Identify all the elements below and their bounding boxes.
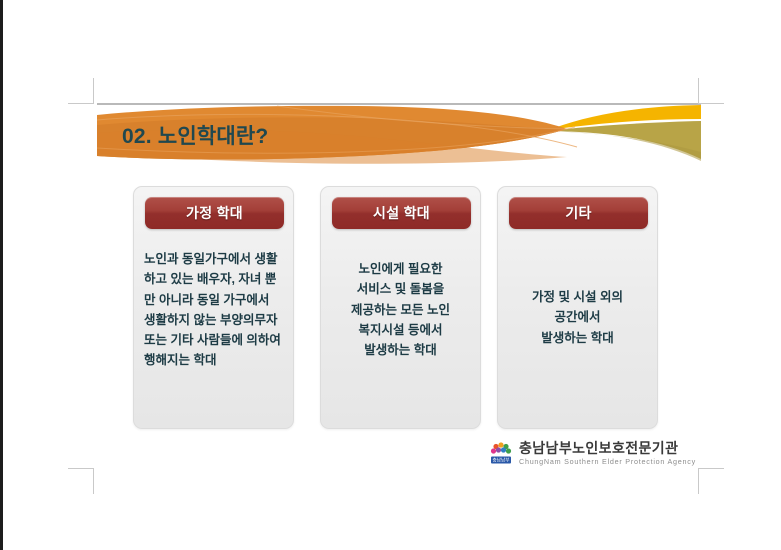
crop-mark-top-right xyxy=(698,78,724,104)
definition-card-row: 가정 학대 노인과 동일가구에서 생활하고 있는 배우자, 자녀 뿐만 아니라 … xyxy=(133,186,668,429)
header-banner: 02. 노인학대란? xyxy=(97,103,701,171)
card-body-other-abuse: 가정 및 시설 외의 공간에서 발생하는 학대 xyxy=(508,287,647,348)
agency-logo-text: 충남남부노인보호전문기관 ChungNam Southern Elder Pro… xyxy=(519,441,696,465)
card-body-facility-abuse: 노인에게 필요한 서비스 및 돌봄을 제공하는 모든 노인 복지시설 등에서 발… xyxy=(331,259,470,360)
crop-mark-top-left xyxy=(68,78,94,104)
agency-name-korean: 충남남부노인보호전문기관 xyxy=(519,441,696,455)
agency-name-english: ChungNam Southern Elder Protection Agenc… xyxy=(519,458,696,465)
card-header-facility-abuse: 시설 학대 xyxy=(332,197,471,229)
svg-text:충남남부: 충남남부 xyxy=(493,457,510,464)
card-body-home-abuse: 노인과 동일가구에서 생활하고 있는 배우자, 자녀 뿐만 아니라 동일 가구에… xyxy=(144,249,283,371)
slide-canvas: 02. 노인학대란? 가정 학대 노인과 동일가구에서 생활하고 있는 배우자,… xyxy=(0,0,781,550)
window-left-edge xyxy=(0,0,3,550)
agency-logo: 충남남부 충남남부노인보호전문기관 ChungNam Southern Elde… xyxy=(489,441,696,465)
crop-mark-bottom-right xyxy=(698,468,724,494)
flower-people-icon: 충남남부 xyxy=(489,441,513,465)
page-title: 02. 노인학대란? xyxy=(122,120,268,150)
card-header-label: 기타 xyxy=(565,203,591,223)
card-header-other-abuse: 기타 xyxy=(509,197,648,229)
card-header-label: 시설 학대 xyxy=(373,203,430,223)
card-home-abuse: 가정 학대 노인과 동일가구에서 생활하고 있는 배우자, 자녀 뿐만 아니라 … xyxy=(133,186,294,429)
crop-mark-bottom-left xyxy=(68,468,94,494)
card-header-home-abuse: 가정 학대 xyxy=(145,197,284,229)
card-header-label: 가정 학대 xyxy=(186,203,243,223)
agency-logo-icon: 충남남부 xyxy=(489,441,513,465)
card-facility-abuse: 시설 학대 노인에게 필요한 서비스 및 돌봄을 제공하는 모든 노인 복지시설… xyxy=(320,186,481,429)
card-other-abuse: 기타 가정 및 시설 외의 공간에서 발생하는 학대 xyxy=(497,186,658,429)
